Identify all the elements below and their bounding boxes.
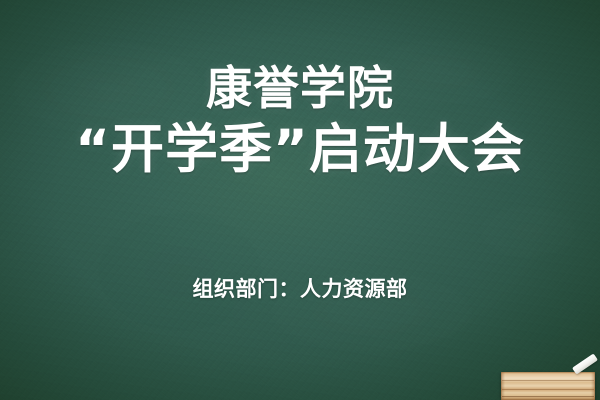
ledge-seam-1 (502, 380, 594, 381)
slide-title: 康誉学院 “开学季”启动大会 (0, 62, 600, 181)
title-line-2: “开学季”启动大会 (0, 119, 600, 180)
title-line-1: 康誉学院 (0, 62, 600, 115)
presentation-slide: 康誉学院 “开学季”启动大会 组织部门：人力资源部 (0, 0, 600, 400)
ledge-seam-2 (502, 389, 594, 390)
wooden-chalk-ledge-icon (501, 372, 595, 400)
slide-content: 康誉学院 “开学季”启动大会 组织部门：人力资源部 (0, 0, 600, 400)
ledge-seam-3 (502, 396, 594, 397)
slide-subtitle: 组织部门：人力资源部 (0, 273, 600, 303)
